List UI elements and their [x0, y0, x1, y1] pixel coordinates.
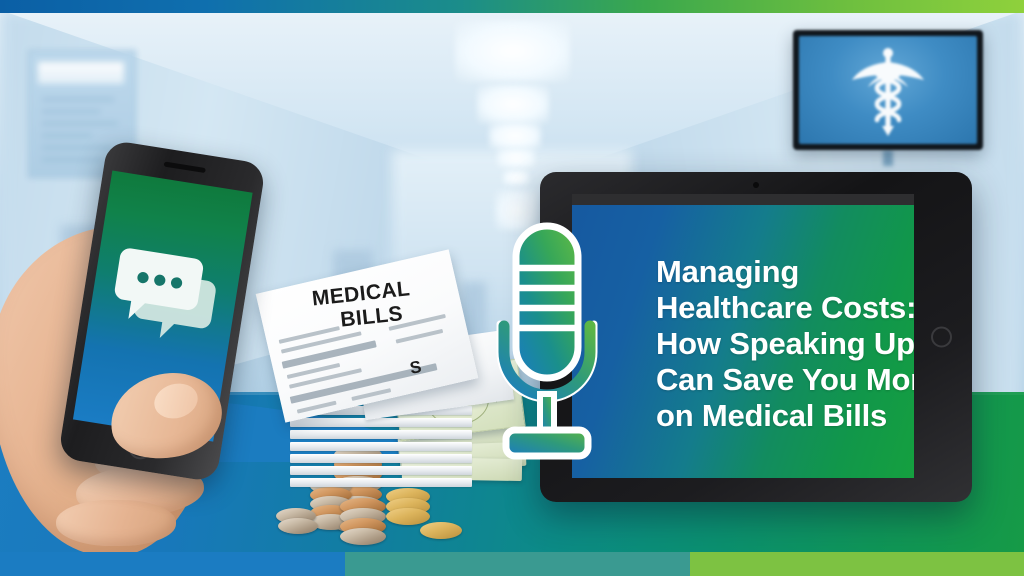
ceiling-light-5 — [503, 170, 529, 185]
tablet-home-button[interactable] — [931, 327, 952, 348]
poster-line — [42, 110, 100, 113]
tablet-status-bar — [572, 194, 914, 205]
bottom-bar-green-segment — [690, 552, 1024, 576]
title-line-3: How Speaking Up — [656, 326, 914, 362]
bill-text-line — [396, 329, 444, 344]
title-line-1: Managing — [656, 254, 914, 290]
bill-sheet-edge — [290, 478, 472, 487]
title-line-2: Healthcare Costs: — [656, 290, 914, 326]
chat-bubbles-icon — [105, 243, 223, 358]
coin — [278, 518, 318, 534]
coin — [386, 508, 430, 525]
poster-line — [42, 158, 102, 161]
title-line-4: Can Save You Money — [656, 362, 914, 398]
coin — [420, 522, 462, 539]
poster-highlight — [38, 62, 124, 84]
poster-line — [42, 98, 114, 101]
top-gradient-rule — [0, 0, 1024, 13]
medical-bills-stack: MEDICAL BILLS S — [250, 270, 500, 510]
bill-sheet-edge — [290, 442, 472, 451]
bottom-bar-teal-segment — [345, 552, 690, 576]
bottom-bar-blue-segment — [0, 552, 345, 576]
bill-text-line — [351, 388, 391, 401]
coin — [340, 528, 386, 545]
bill-sheet-edge — [290, 418, 472, 427]
poster-line — [42, 146, 112, 149]
poster-line — [42, 134, 92, 137]
tablet-camera — [753, 182, 759, 188]
mic-base — [506, 430, 588, 456]
bill-sheet-edge — [290, 430, 472, 439]
wall-monitor — [793, 30, 983, 150]
finger-ring — [56, 500, 176, 546]
ceiling-light-2 — [477, 84, 549, 124]
bill-sheet-edge — [290, 466, 472, 475]
microphone-icon — [482, 212, 612, 474]
caduceus-icon — [849, 44, 927, 136]
ceiling-light-4 — [497, 148, 535, 168]
ceiling-light-1 — [455, 20, 570, 82]
monitor-mount — [883, 150, 893, 166]
episode-title: Managing Healthcare Costs: How Speaking … — [656, 254, 914, 434]
episode-cover-stage: MEDICAL BILLS S THE UNITED STATES OF AME… — [0, 0, 1024, 576]
bill-sheet-edge — [290, 454, 472, 463]
title-line-5: on Medical Bills — [656, 398, 914, 434]
bill-text-line — [297, 401, 337, 414]
wall-monitor-screen — [799, 36, 977, 144]
poster-line — [42, 122, 118, 125]
tablet-screen[interactable]: Managing Healthcare Costs: How Speaking … — [572, 194, 914, 478]
phone-earpiece — [164, 162, 206, 174]
ceiling-light-3 — [489, 122, 541, 150]
bottom-color-bar — [0, 552, 1024, 576]
